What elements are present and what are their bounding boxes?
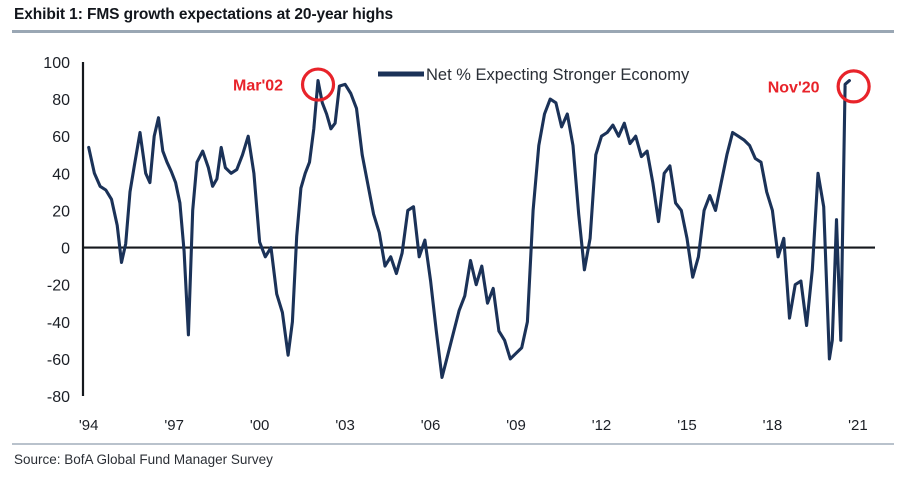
legend-label: Net % Expecting Stronger Economy <box>426 66 690 84</box>
y-tick-label: 80 <box>52 92 70 109</box>
x-tick-label: '21 <box>848 417 868 434</box>
title-divider <box>12 30 894 33</box>
y-tick-label: 0 <box>61 241 70 258</box>
page-title: Exhibit 1: FMS growth expectations at 20… <box>14 6 393 24</box>
source-divider <box>12 443 894 445</box>
series-line-net-pct-expecting-stronger-economy <box>89 81 850 378</box>
source-note: Source: BofA Global Fund Manager Survey <box>14 452 273 467</box>
y-axis-tick-labels: 100806040200-20-40-60-80 <box>43 55 70 406</box>
annotation-circle-marker <box>838 71 869 102</box>
chart-plot-area: 100806040200-20-40-60-80 '94'97'00'03'06… <box>0 34 906 440</box>
annotation-label: Mar'02 <box>233 78 283 95</box>
x-tick-label: '06 <box>421 417 441 434</box>
y-tick-label: -60 <box>47 352 70 369</box>
exhibit-title-bar: Exhibit 1: FMS growth expectations at 20… <box>0 0 906 30</box>
y-tick-label: -20 <box>47 278 70 295</box>
x-tick-label: '97 <box>164 417 184 434</box>
x-tick-label: '15 <box>677 417 697 434</box>
x-axis-tick-labels: '94'97'00'03'06'09'12'15'18'21 <box>79 417 868 434</box>
x-tick-label: '03 <box>335 417 355 434</box>
line-chart-svg: 100806040200-20-40-60-80 '94'97'00'03'06… <box>0 34 906 440</box>
y-tick-label: 100 <box>43 55 70 72</box>
chart-legend: Net % Expecting Stronger Economy <box>378 66 690 84</box>
y-tick-label: -80 <box>47 389 70 406</box>
annotation-label: Nov'20 <box>768 79 820 96</box>
x-tick-label: '09 <box>506 417 526 434</box>
y-tick-label: -40 <box>47 315 70 332</box>
y-tick-label: 40 <box>52 166 70 183</box>
x-tick-label: '12 <box>592 417 612 434</box>
y-tick-label: 60 <box>52 129 70 146</box>
y-tick-label: 20 <box>52 203 70 220</box>
exhibit-chart-panel: Exhibit 1: FMS growth expectations at 20… <box>0 0 906 502</box>
x-tick-label: '18 <box>763 417 783 434</box>
x-tick-label: '00 <box>250 417 270 434</box>
x-tick-label: '94 <box>79 417 99 434</box>
